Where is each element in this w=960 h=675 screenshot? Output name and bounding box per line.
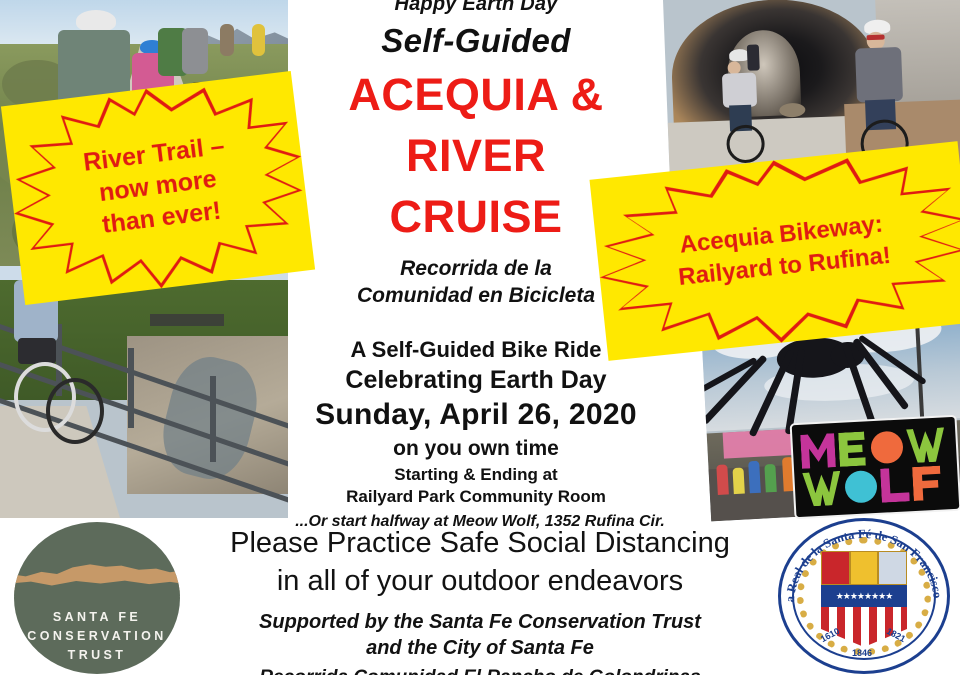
letter-M bbox=[800, 433, 836, 469]
logo-disc: SANTA FE CONSERVATION TRUST bbox=[14, 522, 180, 674]
starburst-acequia-bikeway: Acequia Bikeway: Railyard to Rufina! bbox=[590, 141, 960, 361]
santa-fe-conservation-trust-logo: SANTA FE CONSERVATION TRUST bbox=[14, 522, 180, 674]
letter-F bbox=[912, 466, 942, 501]
lion-quarter bbox=[850, 551, 879, 585]
shield-quarters bbox=[821, 551, 907, 585]
event-date: Sunday, April 26, 2020 bbox=[288, 398, 664, 432]
own-time-note: on you own time bbox=[288, 437, 664, 461]
sfct-line-2: CONSERVATION bbox=[14, 627, 180, 646]
distancing-line-1: Please Practice Safe Social Distancing bbox=[170, 524, 790, 562]
letter-O bbox=[844, 470, 878, 504]
castle-quarter bbox=[821, 551, 850, 585]
railing-post bbox=[128, 348, 134, 428]
start-location: Railyard Park Community Room bbox=[288, 486, 664, 508]
happy-earth-day-text: Happy Earth Day bbox=[288, 0, 664, 16]
letter-L bbox=[880, 467, 910, 502]
start-label: Starting & Ending at bbox=[288, 464, 664, 486]
meow-wolf-logo bbox=[790, 415, 960, 520]
flyer-canvas: Happy Earth Day Self-Guided ACEQUIA & RI… bbox=[0, 0, 960, 675]
meow-wolf-wordmark bbox=[792, 417, 960, 517]
title-line-2: RIVER bbox=[288, 130, 664, 182]
city-of-santa-fe-seal: La Villa Real de la Santa Fé de San Fran… bbox=[778, 518, 950, 674]
pedestrian bbox=[248, 22, 274, 74]
distancing-line-2: in all of your outdoor endeavors bbox=[170, 562, 790, 600]
seal-year-bottom: 1846 bbox=[852, 648, 872, 658]
footbridge bbox=[150, 314, 224, 326]
title-line-1: ACEQUIA & bbox=[288, 69, 664, 121]
self-guided-text: Self-Guided bbox=[288, 22, 664, 60]
photo-river-railing bbox=[0, 266, 288, 518]
shield-star-band: ★★★★★★★★ bbox=[821, 585, 907, 607]
railing-post bbox=[210, 376, 216, 462]
starburst-river-trail: River Trail – now more than ever! bbox=[1, 71, 315, 305]
logo-wordmark: SANTA FE CONSERVATION TRUST bbox=[14, 608, 180, 665]
starburst-left-text: River Trail – now more than ever! bbox=[82, 130, 235, 247]
eagle-quarter bbox=[878, 551, 907, 585]
letter-W bbox=[906, 427, 946, 463]
celebrating-earth-day: Celebrating Earth Day bbox=[288, 366, 664, 395]
letter-W bbox=[802, 471, 842, 507]
sfct-line-3: TRUST bbox=[14, 646, 180, 665]
letter-O bbox=[870, 431, 904, 465]
pedestrian bbox=[216, 22, 242, 74]
sfct-line-1: SANTA FE bbox=[14, 608, 180, 627]
letter-E bbox=[838, 432, 866, 467]
